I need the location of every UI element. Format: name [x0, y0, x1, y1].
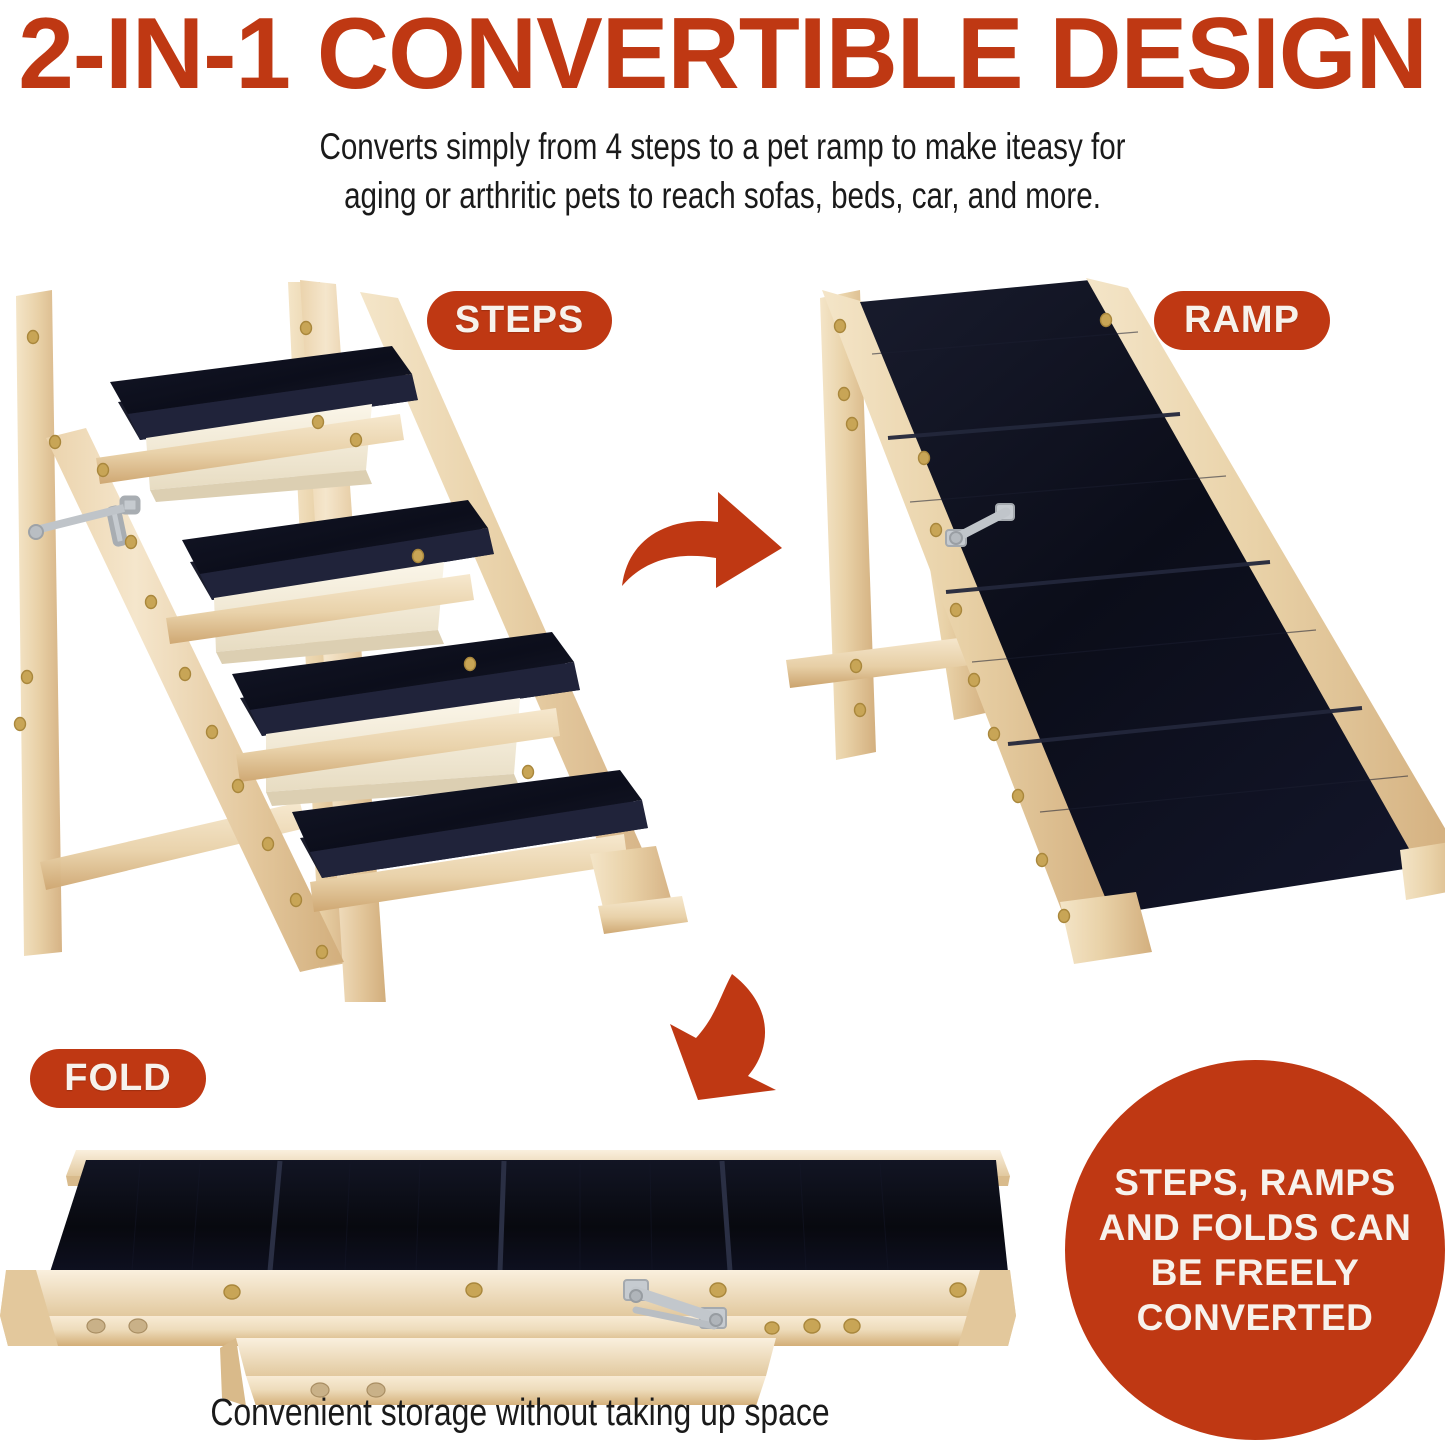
product-photo-steps: [0, 262, 700, 1002]
badge-ramp: RAMP: [1154, 291, 1330, 350]
product-photo-ramp: [760, 262, 1445, 1002]
callout-line-1: STEPS, RAMPS: [1114, 1160, 1396, 1205]
badge-fold: FOLD: [30, 1049, 206, 1108]
callout-badge-converted: STEPS, RAMPS AND FOLDS CAN BE FREELY CON…: [1065, 1060, 1445, 1440]
callout-line-4: CONVERTED: [1137, 1295, 1374, 1340]
page-subtitle-line-1: Converts simply from 4 steps to a pet ra…: [145, 122, 1301, 171]
product-photo-folded: [0, 1120, 1020, 1405]
callout-line-2: AND FOLDS CAN: [1099, 1205, 1412, 1250]
page-subtitle: Converts simply from 4 steps to a pet ra…: [145, 122, 1301, 220]
page-subtitle-line-2: aging or arthritic pets to reach sofas, …: [145, 171, 1301, 220]
infographic-page: 2-IN-1 CONVERTIBLE DESIGN Converts simpl…: [0, 0, 1445, 1448]
curved-arrow-down-left-icon: [636, 972, 786, 1102]
page-title: 2-IN-1 CONVERTIBLE DESIGN: [7, 2, 1438, 106]
callout-line-3: BE FREELY: [1151, 1250, 1360, 1295]
badge-steps: STEPS: [427, 291, 612, 350]
bottom-caption: Convenient storage without taking up spa…: [83, 1392, 957, 1435]
